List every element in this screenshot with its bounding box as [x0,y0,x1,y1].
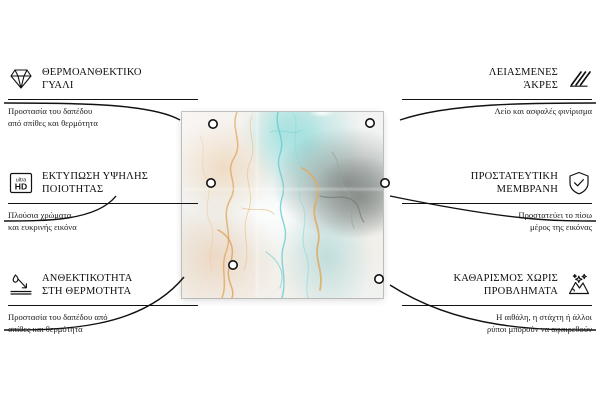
feature-heat-resistant-glass[interactable]: ΘΕΡΜΟΑΝΘΕΚΤΙΚΟ ΓΥΑΛΙ Προστασία του δαπέδ… [8,62,198,130]
infographic-canvas: ΘΕΡΜΟΑΝΘΕΚΤΙΚΟ ΓΥΑΛΙ Προστασία του δαπέδ… [0,0,600,400]
ultra-hd-badge-icon: ultra HD [8,170,34,196]
flame-deflect-icon [8,272,34,298]
feature-description: Η αιθάλη, η στάχτη ή άλλοι ρύποι μπορούν… [402,311,592,336]
feature-header: ΠΡΟΣΤΑΤΕΥΤΙΚΗ ΜΕΜΒΡΑΝΗ [402,166,592,200]
feature-header: ΚΑΘΑΡΙΣΜΟΣ ΧΩΡΙΣ ΠΡΟΒΛΗΜΑΤΑ [402,268,592,302]
feature-description: Λείο και ασφαλές φινίρισμα [402,105,592,117]
product-image [182,112,383,298]
sparkle-cloth-icon [566,272,592,298]
feature-high-quality-print[interactable]: ultra HD ΕΚΤΥΠΩΣΗ ΥΨΗΛΗΣ ΠΟΙΟΤΗΤΑΣ Πλούσ… [8,166,198,234]
feature-polished-edges[interactable]: ΛΕΙΑΣΜΕΝΕΣ ΆΚΡΕΣ Λείο και ασφαλές φινίρι… [402,62,592,117]
divider [402,305,592,306]
feature-title: ΚΑΘΑΡΙΣΜΟΣ ΧΩΡΙΣ ΠΡΟΒΛΗΜΑΤΑ [453,272,558,299]
feature-easy-cleaning[interactable]: ΚΑΘΑΡΙΣΜΟΣ ΧΩΡΙΣ ΠΡΟΒΛΗΜΑΤΑ Η αιθάλη, η … [402,268,592,336]
feature-title: ΕΚΤΥΠΩΣΗ ΥΨΗΛΗΣ ΠΟΙΟΤΗΤΑΣ [42,170,148,197]
feature-description: Προστασία του δαπέδου από σπίθες και θερ… [8,311,198,336]
feature-description: Προστατεύει το πίσω μέρος της εικόνας [402,209,592,234]
feature-title: ΑΝΘΕΚΤΙΚΟΤΗΤΑ ΣΤΗ ΘΕΡΜΟΤΗΤΑ [42,272,132,299]
divider [8,99,198,100]
shield-check-icon [566,170,592,196]
feature-heat-durability[interactable]: ΑΝΘΕΚΤΙΚΟΤΗΤΑ ΣΤΗ ΘΕΡΜΟΤΗΤΑ Προστασία το… [8,268,198,336]
divider [402,99,592,100]
divider [8,305,198,306]
feature-description: Πλούσια χρώματα και ευκρινής εικόνα [8,209,198,234]
feature-header: ΛΕΙΑΣΜΕΝΕΣ ΆΚΡΕΣ [402,62,592,96]
feature-header: ΘΕΡΜΟΑΝΘΕΚΤΙΚΟ ΓΥΑΛΙ [8,62,198,96]
feature-header: ultra HD ΕΚΤΥΠΩΣΗ ΥΨΗΛΗΣ ΠΟΙΟΤΗΤΑΣ [8,166,198,200]
feature-title: ΠΡΟΣΤΑΤΕΥΤΙΚΗ ΜΕΜΒΡΑΝΗ [471,170,558,197]
feature-title: ΘΕΡΜΟΑΝΘΕΚΤΙΚΟ ΓΥΑΛΙ [42,66,142,93]
diagonal-lines-icon [566,66,592,92]
feature-description: Προστασία του δαπέδου από σπίθες και θερ… [8,105,198,130]
glass-panel [182,112,383,298]
feature-header: ΑΝΘΕΚΤΙΚΟΤΗΤΑ ΣΤΗ ΘΕΡΜΟΤΗΤΑ [8,268,198,302]
feature-title: ΛΕΙΑΣΜΕΝΕΣ ΆΚΡΕΣ [489,66,558,93]
ultra-hd-bottom-label: HD [15,182,27,192]
diamond-icon [8,66,34,92]
feature-protective-membrane[interactable]: ΠΡΟΣΤΑΤΕΥΤΙΚΗ ΜΕΜΒΡΑΝΗ Προστατεύει το πί… [402,166,592,234]
marble-veins [182,112,383,298]
divider [8,203,198,204]
divider [402,203,592,204]
